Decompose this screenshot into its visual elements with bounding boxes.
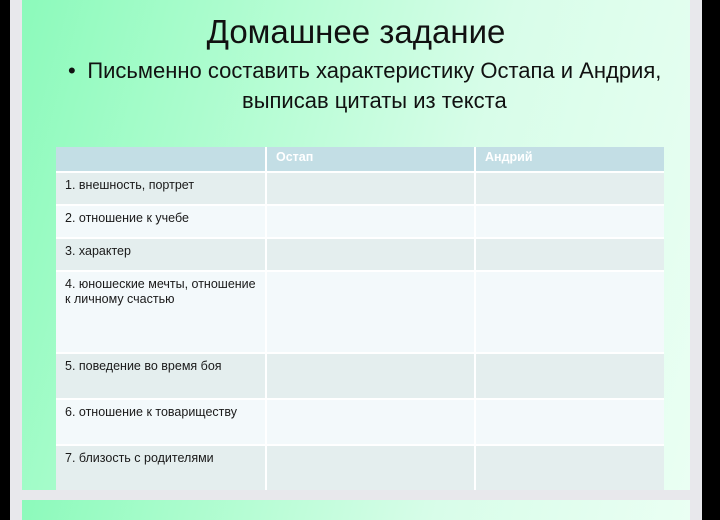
comparison-table-container: Остап Андрий 1. внешность, портрет 2. от… [56, 147, 664, 490]
table-row: 3. характер [56, 238, 664, 271]
cell-andriy-2[interactable] [475, 205, 664, 238]
column-header-andriy: Андрий [475, 147, 664, 172]
cell-andriy-4[interactable] [475, 271, 664, 353]
column-header-ostap: Остап [266, 147, 475, 172]
bullet-marker-icon: • [68, 56, 76, 86]
cell-ostap-7[interactable] [266, 445, 475, 490]
row-label-4: 4. юношеские мечты, отношение к личному … [56, 271, 266, 353]
table-row: 4. юношеские мечты, отношение к личному … [56, 271, 664, 353]
row-label-3: 3. характер [56, 238, 266, 271]
cell-ostap-5[interactable] [266, 353, 475, 399]
page-title: Домашнее задание [22, 0, 690, 52]
bullet-list-item: Письменно составить характеристику Остап… [85, 56, 664, 116]
bullet-list: • Письменно составить характеристику Ост… [22, 56, 690, 116]
table-row: 7. близость с родителями [56, 445, 664, 490]
row-label-5: 5. поведение во время боя [56, 353, 266, 399]
table-header: Остап Андрий [56, 147, 664, 172]
column-header-criteria [56, 147, 266, 172]
cell-andriy-1[interactable] [475, 172, 664, 205]
cell-andriy-5[interactable] [475, 353, 664, 399]
cell-andriy-7[interactable] [475, 445, 664, 490]
table-body: 1. внешность, портрет 2. отношение к уче… [56, 172, 664, 490]
table-row: 1. внешность, портрет [56, 172, 664, 205]
table-row: 2. отношение к учебе [56, 205, 664, 238]
table-header-row: Остап Андрий [56, 147, 664, 172]
row-label-6: 6. отношение к товариществу [56, 399, 266, 445]
slide-viewer: Домашнее задание • Письменно составить х… [0, 0, 720, 520]
cell-ostap-4[interactable] [266, 271, 475, 353]
cell-ostap-1[interactable] [266, 172, 475, 205]
row-label-1: 1. внешность, портрет [56, 172, 266, 205]
slide-canvas: Домашнее задание • Письменно составить х… [22, 0, 690, 490]
comparison-table: Остап Андрий 1. внешность, портрет 2. от… [56, 147, 664, 490]
row-label-2: 2. отношение к учебе [56, 205, 266, 238]
cell-andriy-6[interactable] [475, 399, 664, 445]
cell-ostap-3[interactable] [266, 238, 475, 271]
row-label-7: 7. близость с родителями [56, 445, 266, 490]
cell-andriy-3[interactable] [475, 238, 664, 271]
table-row: 6. отношение к товариществу [56, 399, 664, 445]
table-row: 5. поведение во время боя [56, 353, 664, 399]
next-slide-preview[interactable] [22, 500, 690, 520]
cell-ostap-2[interactable] [266, 205, 475, 238]
cell-ostap-6[interactable] [266, 399, 475, 445]
